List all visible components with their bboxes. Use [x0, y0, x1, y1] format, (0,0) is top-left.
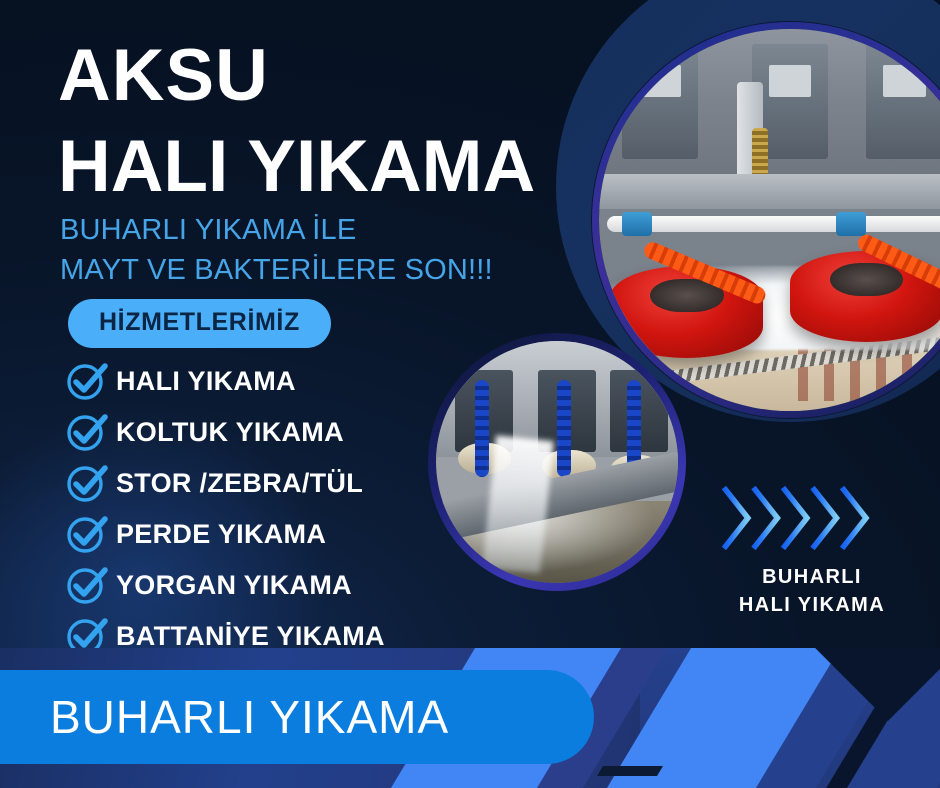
promotional-poster: AKSU HALI YIKAMA BUHARLI YIKAMA İLE MAYT…	[0, 0, 940, 788]
list-item-label: STOR /ZEBRA/TÜL	[116, 468, 363, 499]
double-chevron-arrows-icon	[720, 482, 905, 554]
logo-text: BUHARLI HALI YIKAMA	[712, 564, 912, 619]
list-item-label: PERDE YIKAMA	[116, 519, 326, 550]
check-circle-icon	[64, 564, 112, 608]
list-item: KOLTUK YIKAMA	[64, 407, 484, 458]
list-item: HALI YIKAMA	[64, 356, 484, 407]
brand-title-line1: AKSU	[58, 40, 618, 112]
list-item-label: HALI YIKAMA	[116, 366, 296, 397]
bottom-banner: BUHARLI YIKAMA	[0, 648, 940, 788]
check-circle-icon	[64, 411, 112, 455]
banner-text: BUHARLI YIKAMA	[50, 690, 449, 744]
list-item-label: YORGAN YIKAMA	[116, 570, 352, 601]
check-circle-icon	[64, 462, 112, 506]
services-list: HALI YIKAMA KOLTUK YIKAMA STOR /ZEBRA/TÜ…	[64, 356, 484, 662]
logo-text-line1: BUHARLI	[712, 564, 912, 592]
brand-title-line2: HALI YIKAMA	[58, 130, 618, 204]
list-item: STOR /ZEBRA/TÜL	[64, 458, 484, 509]
subtitle-line1: BUHARLI YIKAMA İLE	[60, 211, 580, 251]
logo-text-line2: HALI YIKAMA	[712, 592, 912, 620]
list-item-label: KOLTUK YIKAMA	[116, 417, 344, 448]
headline-block: AKSU HALI YIKAMA	[58, 40, 618, 204]
banner-pill: BUHARLI YIKAMA	[0, 670, 594, 764]
subtitle-line2: MAYT VE BAKTERİLERE SON!!!	[60, 251, 580, 291]
company-logo: BUHARLI HALI YIKAMA	[712, 482, 912, 619]
check-circle-icon	[64, 513, 112, 557]
subtitle-block: BUHARLI YIKAMA İLE MAYT VE BAKTERİLERE S…	[60, 211, 580, 290]
list-item: PERDE YIKAMA	[64, 509, 484, 560]
services-badge: HİZMETLERİMİZ	[68, 299, 331, 348]
banner-notch	[597, 766, 663, 776]
list-item: YORGAN YIKAMA	[64, 560, 484, 611]
check-circle-icon	[64, 360, 112, 404]
